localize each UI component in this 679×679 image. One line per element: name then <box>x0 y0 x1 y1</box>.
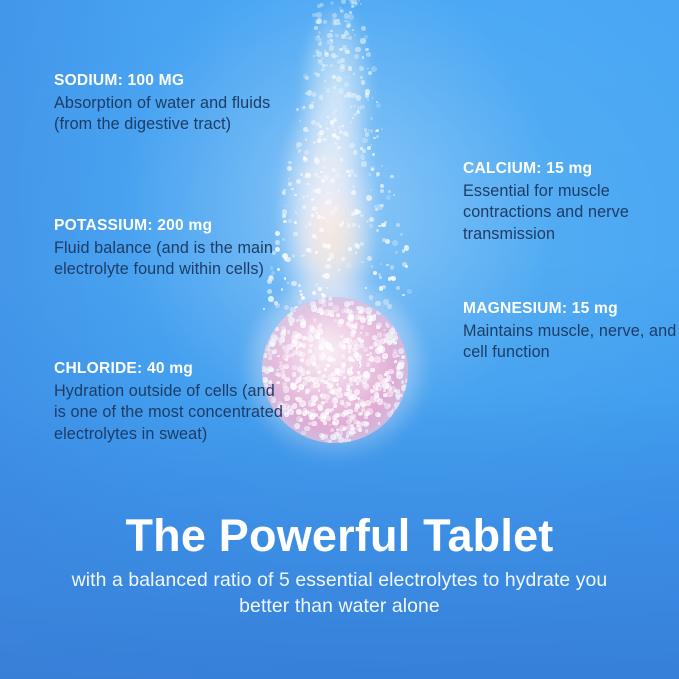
fact-magnesium-description: Maintains muscle, nerve, and cell functi… <box>463 321 679 364</box>
fact-potassium-description: Fluid balance (and is the main electroly… <box>54 238 289 281</box>
product-infographic: SODIUM: 100 MG Absorption of water and f… <box>0 0 679 679</box>
fact-calcium-description: Essential for muscle contractions and ne… <box>463 181 679 246</box>
subheadline: with a balanced ratio of 5 essential ele… <box>60 568 620 619</box>
headline: The Powerful Tablet <box>0 512 679 559</box>
footer-block: The Powerful Tablet with a balanced rati… <box>0 512 679 619</box>
fact-chloride-title: CHLORIDE: 40 mg <box>54 360 289 379</box>
fact-sodium: SODIUM: 100 MG Absorption of water and f… <box>54 72 289 136</box>
fact-calcium: CALCIUM: 15 mg Essential for muscle cont… <box>463 160 679 246</box>
fact-calcium-title: CALCIUM: 15 mg <box>463 160 679 179</box>
fact-chloride: CHLORIDE: 40 mg Hydration outside of cel… <box>54 360 289 446</box>
fact-chloride-description: Hydration outside of cells (and is one o… <box>54 381 289 446</box>
fact-potassium-title: POTASSIUM: 200 mg <box>54 217 289 236</box>
fact-sodium-title: SODIUM: 100 MG <box>54 72 289 91</box>
fact-sodium-description: Absorption of water and fluids (from the… <box>54 93 289 136</box>
fact-magnesium: MAGNESIUM: 15 mg Maintains muscle, nerve… <box>463 300 679 364</box>
fact-potassium: POTASSIUM: 200 mg Fluid balance (and is … <box>54 217 289 281</box>
fact-magnesium-title: MAGNESIUM: 15 mg <box>463 300 679 319</box>
plume-warm-glow <box>286 166 382 296</box>
